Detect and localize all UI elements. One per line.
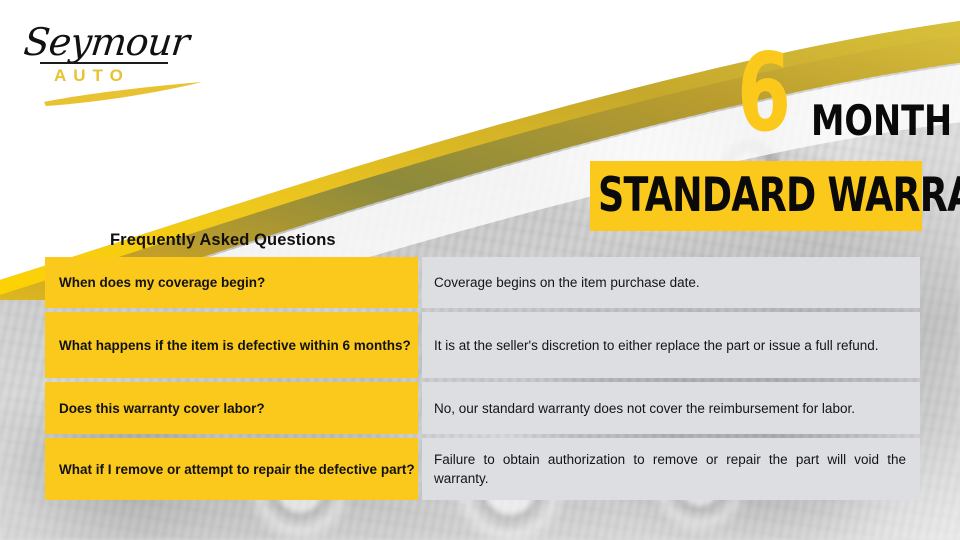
faq-answer-cell: It is at the seller's discretion to eith… [422, 312, 920, 378]
standard-warranty-label: STANDARD WARRANTY [598, 171, 960, 221]
seymour-auto-logo: Seymour AUTO [18, 18, 198, 104]
logo-swoosh-icon [42, 80, 222, 120]
warranty-slide: Seymour AUTO 6 MONTH STANDARD WARRANTY F… [0, 0, 960, 540]
faq-answer-text: Failure to obtain authorization to remov… [434, 450, 906, 488]
faq-table: When does my coverage begin? Coverage be… [45, 257, 920, 500]
faq-answer-text: It is at the seller's discretion to eith… [434, 336, 906, 355]
faq-answer-cell: Coverage begins on the item purchase dat… [422, 257, 920, 308]
faq-answer-cell: Failure to obtain authorization to remov… [422, 438, 920, 500]
duration-unit: MONTH [811, 100, 952, 142]
logo-underline [40, 62, 168, 64]
table-row: What happens if the item is defective wi… [45, 312, 920, 378]
duration-number: 6 [737, 40, 790, 148]
faq-question-text: When does my coverage begin? [59, 274, 418, 291]
faq-question-cell: What happens if the item is defective wi… [45, 312, 418, 378]
faq-answer-text: No, our standard warranty does not cover… [434, 399, 906, 418]
faq-question-cell: When does my coverage begin? [45, 257, 418, 308]
faq-question-cell: What if I remove or attempt to repair th… [45, 438, 418, 500]
faq-answer-cell: No, our standard warranty does not cover… [422, 382, 920, 434]
table-row: When does my coverage begin? Coverage be… [45, 257, 920, 308]
logo-brand-name: Seymour [22, 20, 191, 64]
faq-heading: Frequently Asked Questions [110, 231, 336, 250]
faq-question-cell: Does this warranty cover labor? [45, 382, 418, 434]
table-row: Does this warranty cover labor? No, our … [45, 382, 920, 434]
coverage-duration: 6 MONTH [735, 48, 935, 153]
faq-question-text: What if I remove or attempt to repair th… [59, 461, 418, 478]
faq-question-text: What happens if the item is defective wi… [59, 337, 418, 354]
standard-warranty-banner: STANDARD WARRANTY [590, 161, 922, 231]
faq-question-text: Does this warranty cover labor? [59, 400, 418, 417]
table-row: What if I remove or attempt to repair th… [45, 438, 920, 500]
faq-answer-text: Coverage begins on the item purchase dat… [434, 273, 906, 292]
